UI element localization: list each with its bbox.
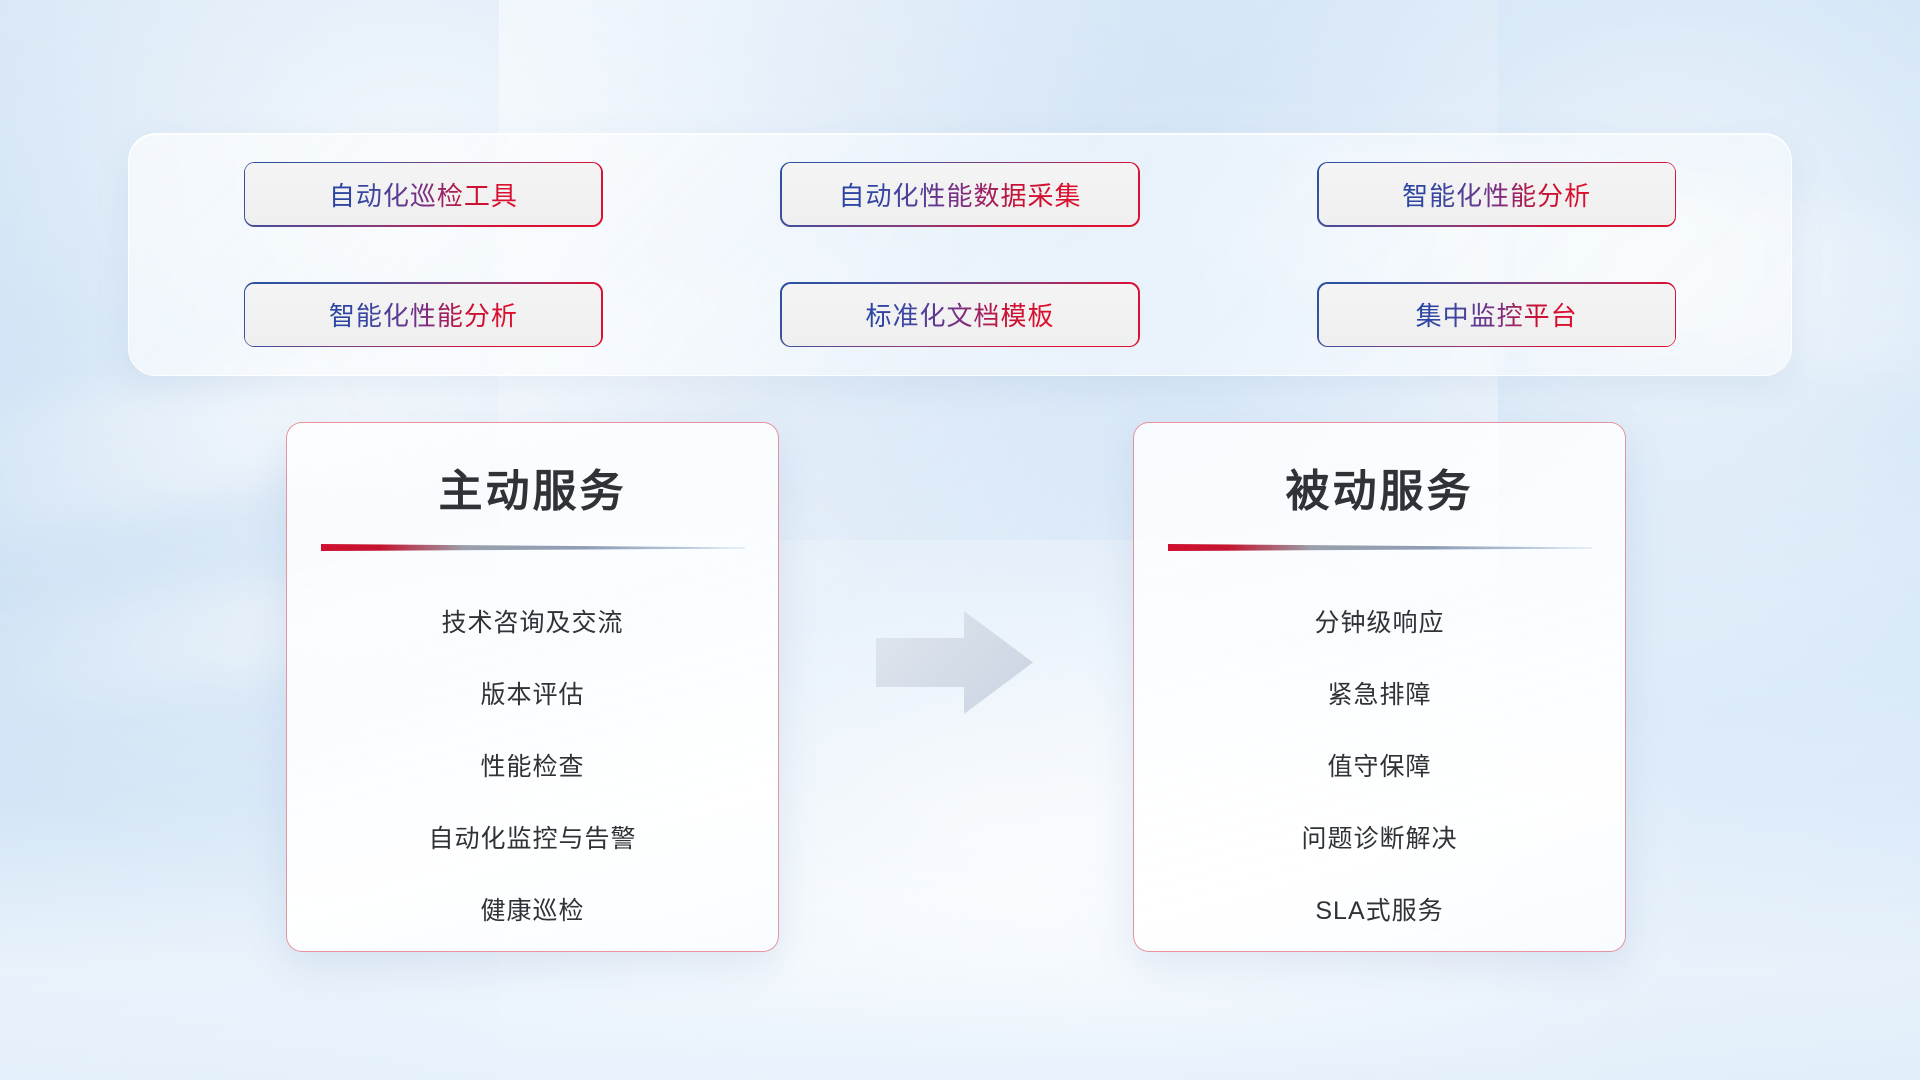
service-list-item: 问题诊断解决 bbox=[1301, 803, 1457, 875]
service-card-list: 分钟级响应 紧急排障 值守保障 问题诊断解决 SLA式服务 bbox=[1134, 587, 1625, 947]
capability-tag[interactable]: 标准化文档模板 bbox=[782, 284, 1138, 346]
service-card-list: 技术咨询及交流 版本评估 性能检查 自动化监控与告警 健康巡检 bbox=[287, 587, 778, 947]
service-list-item: SLA式服务 bbox=[1315, 875, 1443, 947]
title-divider bbox=[321, 541, 745, 553]
service-list-item: 值守保障 bbox=[1327, 731, 1431, 803]
capability-tag-label: 自动化巡检工具 bbox=[329, 176, 518, 213]
flow-arrow-right-icon bbox=[872, 605, 1037, 720]
service-list-item: 自动化监控与告警 bbox=[428, 803, 636, 875]
capability-tag[interactable]: 自动化性能数据采集 bbox=[782, 163, 1138, 225]
service-list-item: 性能检查 bbox=[480, 731, 584, 803]
capability-tag-label: 标准化文档模板 bbox=[865, 296, 1054, 333]
slide-stage: 自动化巡检工具 自动化性能数据采集 智能化性能分析 智能化性能分析 标准化文档模… bbox=[0, 0, 1920, 1080]
capability-tag[interactable]: 自动化巡检工具 bbox=[245, 163, 601, 225]
capability-tag[interactable]: 集中监控平台 bbox=[1319, 284, 1675, 346]
title-divider bbox=[1168, 541, 1592, 553]
capability-tag-label: 集中监控平台 bbox=[1416, 296, 1578, 333]
service-card-passive: 被动服务 分钟级响应 紧急排障 值守保障 bbox=[1133, 422, 1626, 952]
service-list-item: 紧急排障 bbox=[1327, 659, 1431, 731]
service-list-item: 版本评估 bbox=[480, 659, 584, 731]
capability-tag-label: 智能化性能分析 bbox=[329, 296, 518, 333]
service-list-item: 健康巡检 bbox=[480, 875, 584, 947]
service-list-item: 技术咨询及交流 bbox=[441, 587, 623, 659]
service-card-title: 被动服务 bbox=[1134, 455, 1625, 519]
capability-tag-label: 智能化性能分析 bbox=[1402, 176, 1591, 213]
capability-tag[interactable]: 智能化性能分析 bbox=[245, 284, 601, 346]
service-list-item: 分钟级响应 bbox=[1314, 587, 1444, 659]
capability-tag-label: 自动化性能数据采集 bbox=[838, 176, 1081, 213]
service-card-active: 主动服务 技术咨询及交流 版本评估 性能检查 bbox=[286, 422, 779, 952]
capability-tag-panel: 自动化巡检工具 自动化性能数据采集 智能化性能分析 智能化性能分析 标准化文档模… bbox=[128, 133, 1792, 376]
capability-tag[interactable]: 智能化性能分析 bbox=[1319, 163, 1675, 225]
service-card-title: 主动服务 bbox=[287, 455, 778, 519]
